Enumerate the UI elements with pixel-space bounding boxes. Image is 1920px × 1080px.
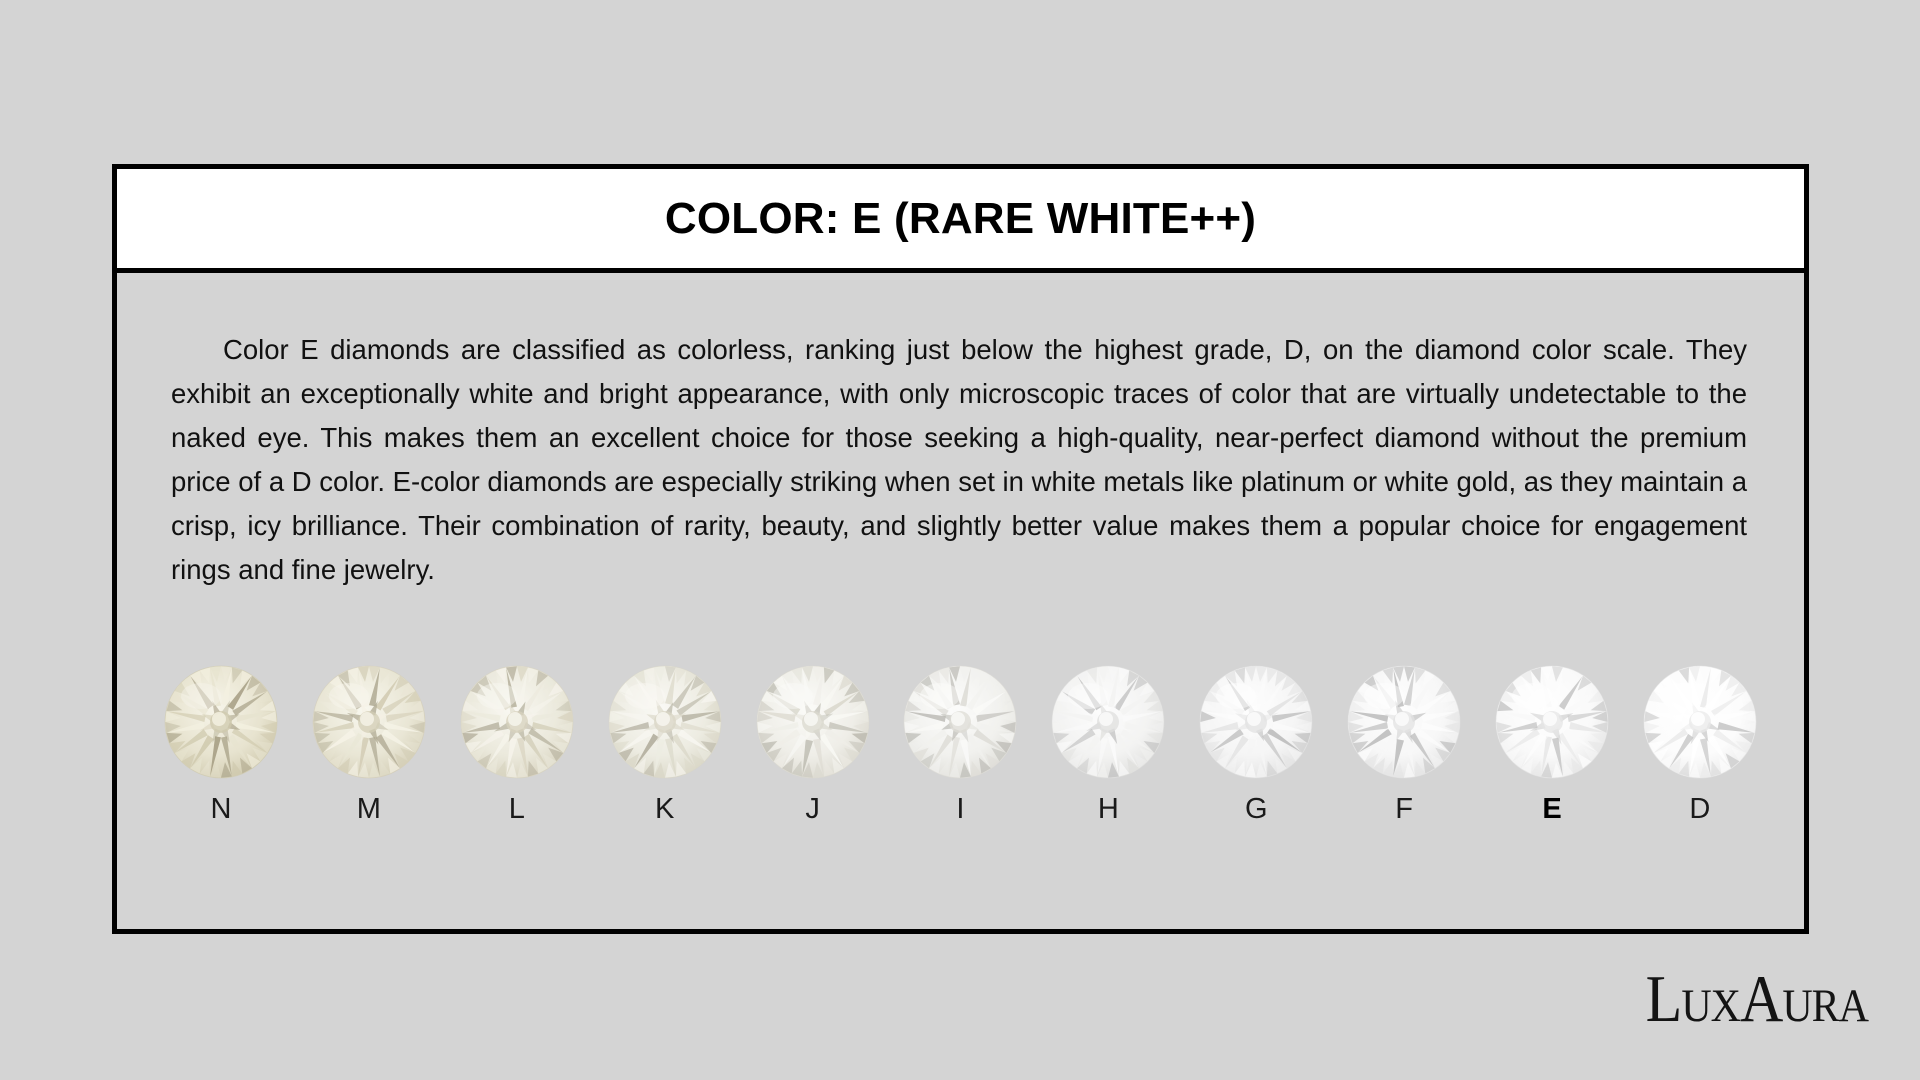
diamond-color-scale: NMLKJIHGFED (157, 663, 1764, 824)
diamond-scale-item[interactable]: F (1340, 663, 1468, 824)
diamond-icon (754, 663, 872, 781)
diamond-icon (162, 663, 280, 781)
diamond-scale-item[interactable]: G (1192, 663, 1320, 824)
diamond-grade-label: D (1689, 795, 1710, 824)
page-title: COLOR: E (RARE WHITE++) (665, 194, 1256, 244)
diamond-scale-item[interactable]: M (305, 663, 433, 824)
diamond-scale-item[interactable]: H (1044, 663, 1172, 824)
diamond-icon (1345, 663, 1463, 781)
brand-logo: LuxAura (1646, 965, 1868, 1032)
diamond-icon (606, 663, 724, 781)
diamond-grade-label: M (357, 795, 381, 824)
diamond-grade-label: I (956, 795, 964, 824)
color-description-text: Color E diamonds are classified as color… (171, 328, 1747, 592)
diamond-grade-label: L (509, 795, 525, 824)
diamond-grade-label: H (1098, 795, 1119, 824)
diamond-scale-item[interactable]: D (1636, 663, 1764, 824)
diamond-icon (1493, 663, 1611, 781)
diamond-grade-label: F (1395, 795, 1413, 824)
diamond-grade-label: K (655, 795, 674, 824)
diamond-icon (1049, 663, 1167, 781)
color-info-panel: COLOR: E (RARE WHITE++) Color E diamonds… (112, 164, 1809, 934)
diamond-grade-label: J (805, 795, 820, 824)
diamond-scale-item[interactable]: K (601, 663, 729, 824)
diamond-grade-label: N (211, 795, 232, 824)
diamond-icon (458, 663, 576, 781)
diamond-scale-item[interactable]: L (453, 663, 581, 824)
diamond-icon (901, 663, 1019, 781)
diamond-grade-label: G (1245, 795, 1268, 824)
panel-header: COLOR: E (RARE WHITE++) (117, 169, 1804, 273)
panel-body: Color E diamonds are classified as color… (117, 273, 1804, 929)
diamond-scale-item[interactable]: I (896, 663, 1024, 824)
diamond-scale-item[interactable]: J (749, 663, 877, 824)
diamond-scale-item[interactable]: E (1488, 663, 1616, 824)
diamond-icon (310, 663, 428, 781)
diamond-scale-item[interactable]: N (157, 663, 285, 824)
diamond-icon (1197, 663, 1315, 781)
diamond-icon (1641, 663, 1759, 781)
diamond-grade-label: E (1542, 795, 1561, 824)
